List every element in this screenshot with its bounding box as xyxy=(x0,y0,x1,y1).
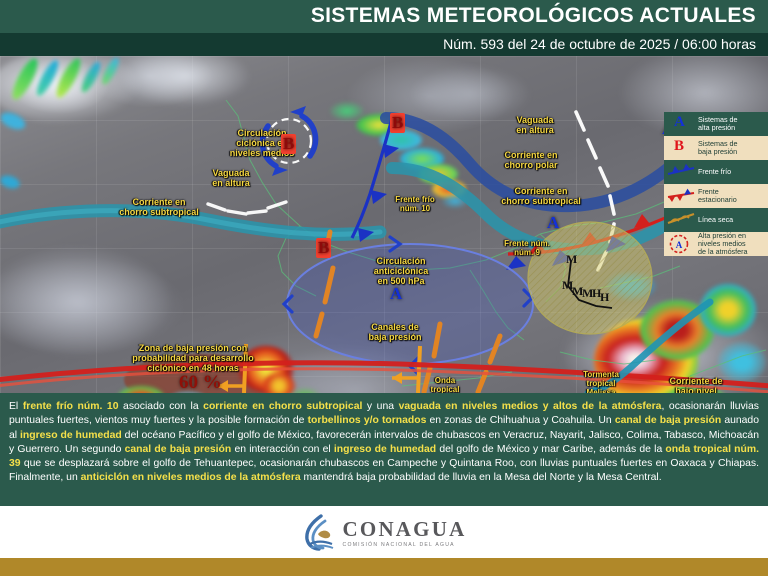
legend-item-sistemas-baja-presion[interactable]: B Sistemas de baja presión xyxy=(664,136,768,160)
itcz-monsoon-trough xyxy=(0,363,768,392)
stationary-front-icon xyxy=(666,185,696,207)
conagua-water-icon xyxy=(302,514,336,552)
forecast-highlight: vaguada en niveles medios y altos de la … xyxy=(399,401,662,412)
label-circulacion-anticiclonica-500hpa: Circulación anticiclónica en 500 hPa xyxy=(358,256,444,286)
legend-item-linea-seca[interactable]: Línea seca xyxy=(664,208,768,232)
legend-label: Frente estacionario xyxy=(696,188,768,204)
forecast-paragraph: El frente frío núm. 10 asociado con la c… xyxy=(9,400,759,486)
legend-item-alta-presion-niveles-medios[interactable]: A Alta presión en niveles medios de la a… xyxy=(664,232,768,256)
glyph-b-noreste: B xyxy=(390,113,405,133)
forecast-highlight: torbellinos y/o tornados xyxy=(308,415,427,426)
label-corriente-chorro-subtropical-este: Corriente en chorro subtropical xyxy=(489,186,593,206)
label-frente-num-9: Frente núm. núm. 9 xyxy=(492,240,562,258)
label-vaguada-en-altura-este: Vaguada en altura xyxy=(500,115,570,135)
page-title: SISTEMAS METEOROLÓGICOS ACTUALES xyxy=(311,4,756,28)
footer: CONAGUA COMISIÓN NACIONAL DEL AGUA xyxy=(0,506,768,576)
forecast-highlight: ingreso de humedad xyxy=(334,444,436,455)
mid-level-high-icon: A xyxy=(666,233,696,255)
weather-bulletin-page: SISTEMAS METEOROLÓGICOS ACTUALES Núm. 59… xyxy=(0,0,768,576)
glyph-a-centro: A xyxy=(390,284,402,304)
footer-gold-bar xyxy=(0,558,768,576)
label-corriente-chorro-polar: Corriente en chorro polar xyxy=(490,150,572,170)
legend-label: Sistemas de alta presión xyxy=(696,116,768,132)
legend-label: Alta presión en niveles medios de la atm… xyxy=(696,232,768,256)
glyph-a-golfo: A xyxy=(547,213,559,233)
satellite-weather-map[interactable]: M M M M H H Corriente en chorro subtropi… xyxy=(0,56,768,393)
cyclone-probability-badge: 60 % xyxy=(179,372,222,393)
forecast-highlight: frente frío núm. 10 xyxy=(23,401,119,412)
header-subbar: Núm. 593 del 24 de octubre de 2025 / 06:… xyxy=(0,33,768,56)
label-corriente-chorro-subtropical-oeste: Corriente en chorro subtropical xyxy=(104,197,214,217)
cold-front-icon xyxy=(666,161,696,183)
forecast-text-panel: El frente frío núm. 10 asociado con la c… xyxy=(0,393,768,506)
cold-front-10 xyxy=(352,118,399,242)
legend-label: Frente frío xyxy=(696,168,768,176)
forecast-highlight: ingreso de humedad xyxy=(20,430,122,441)
glyph-b-norte: B xyxy=(316,238,331,258)
forecast-highlight: canal de baja presión xyxy=(615,415,721,426)
map-legend: A Sistemas de alta presión B Sistemas de… xyxy=(664,112,768,232)
svg-text:A: A xyxy=(676,240,683,250)
legend-label: Sistemas de baja presión xyxy=(696,140,768,156)
legend-label: Línea seca xyxy=(696,216,768,224)
conagua-logo: CONAGUA COMISIÓN NACIONAL DEL AGUA xyxy=(0,514,768,552)
letter-a-icon: A xyxy=(666,113,696,135)
bulletin-number-date: Núm. 593 del 24 de octubre de 2025 / 06:… xyxy=(443,36,756,52)
label-vaguada-en-altura-oeste: Vaguada en altura xyxy=(196,168,266,188)
label-corriente-de-bajo-nivel: Corriente de bajo nivel xyxy=(657,376,735,393)
legend-item-frente-estacionario[interactable]: Frente estacionario xyxy=(664,184,768,208)
header-bar: SISTEMAS METEOROLÓGICOS ACTUALES xyxy=(0,0,768,33)
dry-line-icon xyxy=(666,209,696,231)
label-canales-de-baja-presion: Canales de baja presión xyxy=(355,322,435,342)
legend-item-frente-frio[interactable]: Frente frío xyxy=(664,160,768,184)
label-onda-tropical-num-39: Onda tropical núm. 39 xyxy=(421,377,469,393)
map-vector-overlay xyxy=(0,56,768,393)
label-frente-frio-num-10: Frente frío núm. 10 xyxy=(385,196,445,214)
label-zona-baja-presion-48h: Zona de baja presión con probabilidad pa… xyxy=(118,343,268,373)
forecast-highlight: anticiclón en niveles medios de la atmós… xyxy=(81,472,301,483)
logo-subtitle: COMISIÓN NACIONAL DEL AGUA xyxy=(343,542,467,548)
legend-item-sistemas-alta-presion[interactable]: A Sistemas de alta presión xyxy=(664,112,768,136)
upper-level-trough-west xyxy=(208,202,286,214)
forecast-highlight: corriente en chorro subtropical xyxy=(203,401,362,412)
glyph-b-noroeste: B xyxy=(281,134,296,154)
label-tormenta-tropical-melissa: Tormenta tropical Melissa xyxy=(572,371,630,393)
forecast-highlight: canal de baja presión xyxy=(125,444,232,455)
letter-b-icon: B xyxy=(666,137,696,159)
logo-name: CONAGUA xyxy=(343,519,467,540)
